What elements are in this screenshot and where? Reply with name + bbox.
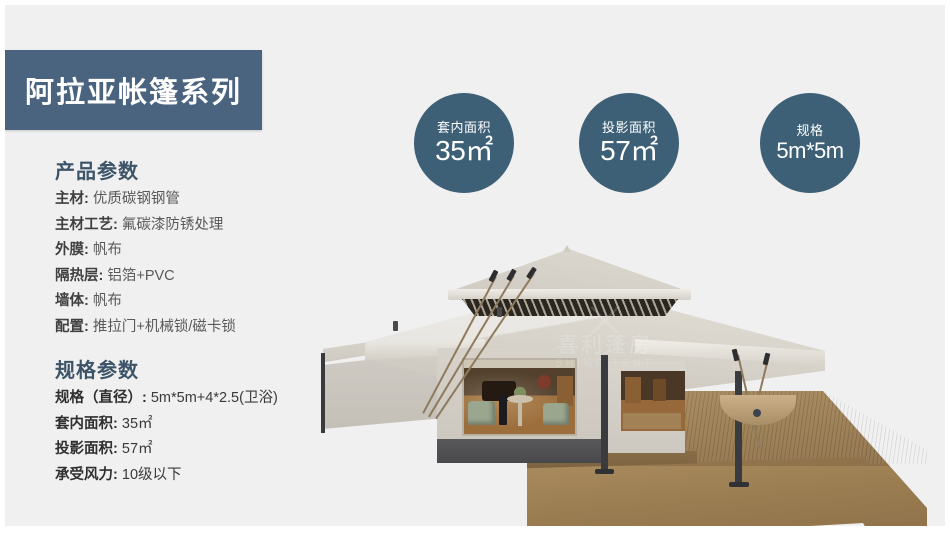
stat-badge-interior-area: 套内面积 35㎡ [414, 93, 514, 193]
tent-product-illustration [305, 243, 950, 533]
series-title-text: 阿拉亚帐篷系列 [25, 69, 242, 111]
wing-pole-cap [497, 307, 502, 317]
right-room-chair [653, 379, 666, 401]
stat-badge-projected-area: 投影面积 57㎡ [579, 93, 679, 193]
roof-finial [563, 245, 571, 252]
param-label: 主材: [55, 191, 89, 207]
spec-value: 10级以下 [122, 467, 182, 483]
param-row: 主材: 优质碳钢钢管 [55, 192, 355, 207]
spec-value: 5m*5m+4*2.5(卫浴) [151, 390, 278, 406]
param-label: 外膜: [55, 242, 89, 258]
support-post-center-base [595, 469, 614, 474]
spec-label: 承受风力: [55, 467, 118, 483]
series-title-banner: 阿拉亚帐篷系列 [5, 50, 262, 130]
param-label: 隔热层: [55, 268, 103, 284]
interior-table-leg [518, 402, 522, 426]
param-label: 主材工艺: [55, 217, 118, 233]
spec-value: 35㎡ [122, 416, 153, 432]
wing-pole-cap [393, 321, 398, 331]
param-value: 帆布 [93, 293, 122, 309]
spec-label: 套内面积: [55, 416, 118, 432]
stat-badge-label: 投影面积 [602, 121, 656, 134]
support-post-center [601, 355, 608, 473]
spec-value: 57㎡ [122, 441, 153, 457]
stat-badge-label: 套内面积 [437, 121, 491, 134]
product-params-heading: 产品参数 [55, 155, 355, 184]
right-room-rug [623, 413, 681, 429]
interior-armchair-left [468, 401, 495, 425]
stat-badge-dimensions: 规格 5m*5m [760, 93, 860, 193]
spec-label: 投影面积: [55, 441, 118, 457]
interior-cabinet [557, 376, 573, 406]
param-value: 氟碳漆防锈处理 [122, 217, 224, 233]
param-label: 配置: [55, 319, 89, 335]
wing-post-left [321, 353, 325, 433]
hammock-knot [753, 409, 761, 417]
param-value: 铝箔+PVC [107, 268, 174, 284]
param-label: 墙体: [55, 293, 89, 309]
stat-badge-label: 规格 [796, 124, 823, 137]
param-value: 推拉门+机械锁/磁卡锁 [93, 319, 236, 335]
interior-armchair-right [543, 403, 569, 425]
param-value: 优质碳钢钢管 [93, 191, 180, 207]
param-value: 帆布 [93, 242, 122, 258]
stat-badge-value: 57㎡ [600, 137, 658, 165]
right-room-cabinet [625, 377, 641, 403]
page-root: 阿拉亚帐篷系列 产品参数 主材: 优质碳钢钢管 主材工艺: 氟碳漆防锈处理 外膜… [0, 0, 950, 534]
support-post-right-base [729, 482, 749, 487]
spec-label: 规格（直径）: [55, 390, 147, 406]
support-post-right [735, 371, 742, 486]
stat-badge-value: 5m*5m [776, 140, 843, 162]
interior-wall-art [537, 375, 551, 389]
stat-badge-value: 35㎡ [435, 137, 493, 165]
param-row: 主材工艺: 氟碳漆防锈处理 [55, 218, 355, 233]
cabin-stone-plinth [437, 439, 602, 463]
interior-figure [499, 395, 507, 425]
